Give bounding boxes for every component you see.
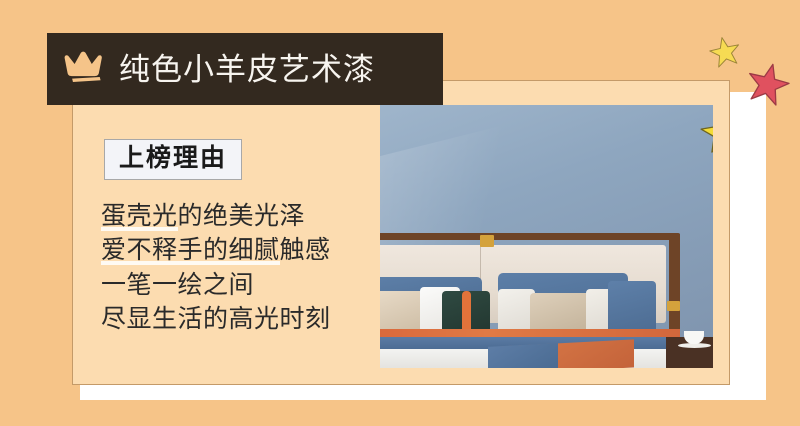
reason-text-block: 蛋壳光的绝美光泽 爱不释手的细腻触感 一笔一绘之间 尽显生活的高光时刻 [101, 199, 331, 336]
title-bar: 纯色小羊皮艺术漆 [47, 33, 443, 105]
star-yellow-large [700, 110, 713, 154]
reason-line-1-rest: 的绝美光泽 [178, 202, 306, 230]
reason-line-1-highlight: 蛋壳光 [101, 202, 178, 231]
headboard-top-rail [380, 233, 676, 240]
headboard-gold-bracket [667, 301, 680, 311]
reason-line-3: 一笔一绘之间 [101, 268, 331, 302]
bed-blue-throw [488, 343, 558, 368]
star-yellow-small-top [709, 36, 741, 68]
reason-line-4: 尽显生活的高光时刻 [101, 302, 331, 336]
poster-canvas: 纯色小羊皮艺术漆 上榜理由 蛋壳光的绝美光泽 爱不释手的细腻触感 一笔一绘之间 … [0, 0, 800, 426]
reason-line-2-highlight: 爱不释手的细腻 [101, 236, 280, 265]
reason-badge: 上榜理由 [104, 139, 242, 180]
reason-line-1: 蛋壳光的绝美光泽 [101, 199, 331, 233]
bedroom-interior-photo [380, 105, 713, 368]
reason-line-2-rest: 触感 [280, 236, 331, 264]
reason-line-2: 爱不释手的细腻触感 [101, 233, 331, 267]
poster-title: 纯色小羊皮艺术漆 [119, 54, 375, 85]
reason-badge-label: 上榜理由 [119, 144, 227, 172]
headboard-gold-hook [480, 235, 494, 247]
crown-icon [47, 51, 119, 87]
star-red [746, 62, 790, 106]
